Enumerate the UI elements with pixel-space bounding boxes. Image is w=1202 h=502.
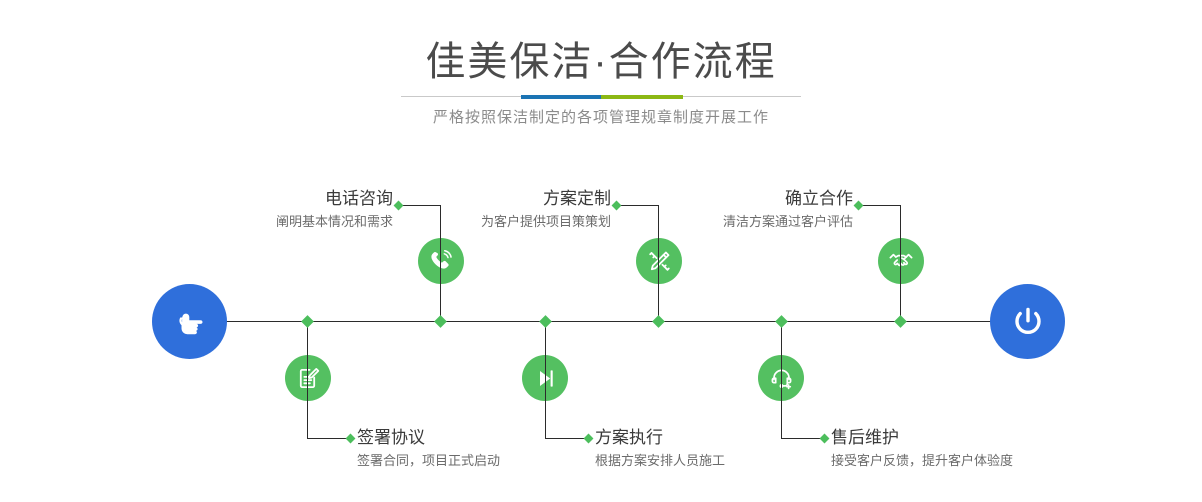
step-title-1: 电话咨询 (138, 188, 393, 210)
step-desc-5: 清洁方案通过客户评估 (598, 212, 853, 232)
connector-horizontal-4 (545, 438, 588, 439)
step-node-5[interactable] (878, 238, 924, 284)
pencil-ruler-icon (646, 248, 673, 275)
divider-green-segment (601, 95, 683, 99)
connector-vertical-6 (781, 321, 782, 438)
axis-marker-2 (301, 315, 314, 328)
handshake-icon (887, 247, 915, 275)
step-label-1: 电话咨询 阐明基本情况和需求 (138, 188, 393, 232)
page-subtitle: 严格按照保洁制定的各项管理规章制度开展工作 (0, 106, 1202, 130)
step-title-5: 确立合作 (598, 188, 853, 210)
step-title-6: 售后维护 (831, 427, 1131, 449)
connector-vertical-4 (545, 321, 546, 438)
axis-marker-4 (539, 315, 552, 328)
step-node-1[interactable] (418, 238, 464, 284)
step-desc-2: 签署合同，项目正式启动 (357, 451, 617, 471)
step-desc-6: 接受客户反馈，提升客户体验度 (831, 451, 1131, 471)
step-node-2[interactable] (285, 355, 331, 401)
step-label-3: 方案定制 为客户提供项目策策划 (356, 188, 611, 232)
step-label-5: 确立合作 清洁方案通过客户评估 (598, 188, 853, 232)
phone-call-icon (427, 247, 455, 275)
connector-horizontal-2 (307, 438, 350, 439)
axis-marker-6 (775, 315, 788, 328)
step-title-3: 方案定制 (356, 188, 611, 210)
flow-end-endpoint[interactable] (990, 284, 1065, 359)
axis-marker-3 (652, 315, 665, 328)
step-desc-4: 根据方案安排人员施工 (595, 451, 855, 471)
step-label-4: 方案执行 根据方案安排人员施工 (595, 427, 855, 471)
step-label-2: 签署协议 签署合同，项目正式启动 (357, 427, 617, 471)
title-divider (401, 95, 801, 99)
axis-marker-5 (894, 315, 907, 328)
document-edit-icon (295, 365, 322, 392)
connector-vertical-5 (900, 205, 901, 321)
connector-dot-5 (854, 201, 864, 211)
step-desc-3: 为客户提供项目策策划 (356, 212, 611, 232)
flow-diagram: 佳美保洁·合作流程 严格按照保洁制定的各项管理规章制度开展工作 (0, 0, 1202, 502)
axis-marker-1 (434, 315, 447, 328)
connector-vertical-2 (307, 321, 308, 438)
power-icon (1007, 301, 1049, 343)
step-desc-1: 阐明基本情况和需求 (138, 212, 393, 232)
pointing-hand-icon (170, 302, 210, 342)
flow-start-endpoint[interactable] (152, 284, 227, 359)
divider-blue-segment (521, 95, 601, 99)
step-node-3[interactable] (636, 238, 682, 284)
connector-dot-2 (346, 434, 356, 444)
connector-horizontal-5 (858, 205, 900, 206)
step-label-6: 售后维护 接受客户反馈，提升客户体验度 (831, 427, 1131, 471)
page-title: 佳美保洁·合作流程 (0, 38, 1202, 86)
connector-horizontal-6 (781, 438, 824, 439)
